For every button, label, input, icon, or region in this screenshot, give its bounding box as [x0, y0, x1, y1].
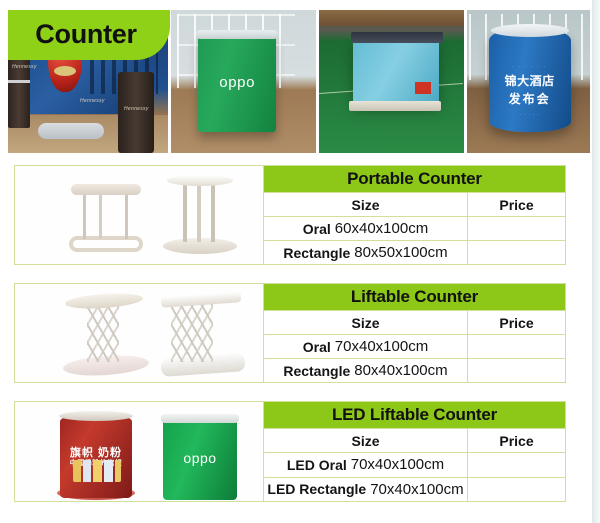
row-size-value: 70x40x100cm — [366, 481, 463, 498]
portable-counter-image — [15, 166, 263, 264]
oppo-logo-text-led: oppo — [163, 450, 237, 466]
table-row: LED Oral 70x40x100cm — [264, 452, 565, 476]
counter-ring-bottom — [8, 80, 30, 83]
price-cell — [468, 217, 565, 240]
table-header-row: Size Price — [264, 428, 565, 452]
price-cell — [468, 478, 565, 501]
row-label: Rectangle — [283, 245, 350, 261]
booth-cushion — [38, 123, 104, 139]
hennessy-wordmark-right: Hennessy — [124, 106, 149, 112]
liftable-counter-photo — [15, 284, 263, 382]
price-cell — [468, 241, 565, 264]
product-cans-graphic — [73, 460, 121, 482]
column-header-size-label: Size — [351, 433, 379, 449]
column-header-price: Price — [468, 311, 565, 334]
bottle-label — [54, 66, 76, 76]
spec-table-liftable-counter: Liftable Counter Size Price Oral 70x40x1… — [263, 284, 565, 382]
product-card-led-liftable-counter: 旗帜 奶粉 中国奶粉的旗帜 oppo LED Liftable Counter … — [14, 401, 566, 502]
page-title: Counter — [35, 19, 142, 52]
section-title-portable-counter: Portable Counter — [264, 166, 565, 192]
table-row: Oral 70x40x100cm — [264, 334, 565, 358]
blue-counter-top — [491, 24, 569, 37]
blue-counter-subtitle: · · · · · · — [489, 64, 571, 69]
column-header-size-label: Size — [351, 197, 379, 213]
table-row: Rectangle 80x50x100cm — [264, 240, 565, 264]
row-label: Oral — [303, 339, 331, 355]
table-row: Rectangle 80x40x100cm — [264, 358, 565, 382]
red-accent-tag — [415, 82, 431, 94]
price-cell — [468, 453, 565, 476]
cyan-counter-base — [349, 101, 441, 111]
page-right-edge — [592, 0, 600, 523]
column-header-price-label: Price — [499, 433, 533, 449]
cyan-counter-top — [351, 32, 443, 43]
section-title-liftable-counter: Liftable Counter — [264, 284, 565, 310]
page-title-tab: Counter — [8, 10, 170, 60]
column-header-size-label: Size — [351, 315, 379, 331]
table-row: LED Rectangle 70x40x100cm — [264, 477, 565, 501]
square-counter-top — [71, 184, 141, 195]
hennessy-wordmark-wall: Hennessy — [80, 98, 105, 104]
oppo-green-counter-photo: oppo — [171, 10, 316, 153]
size-cell: LED Rectangle 70x40x100cm — [264, 478, 468, 501]
wood-floor-strip — [319, 10, 463, 26]
row-size-value: 70x40x100cm — [347, 456, 444, 473]
row-label: LED Oral — [287, 457, 347, 473]
row-size-value: 80x40x100cm — [350, 362, 447, 379]
column-header-price: Price — [468, 193, 565, 216]
green-counter-top — [196, 30, 278, 39]
liftable-counter-image — [15, 284, 263, 382]
catalog-page: Hennessy Hennessy Hennessy oppo · — [0, 0, 592, 523]
square-counter-legs — [77, 193, 135, 239]
size-cell: LED Oral 70x40x100cm — [264, 453, 468, 476]
column-header-price: Price — [468, 429, 565, 452]
column-header-price-label: Price — [499, 315, 533, 331]
blue-counter-body: · · · · · · 锦大酒店 发布会 · · · · · — [489, 28, 571, 132]
green-counter-body: oppo — [198, 34, 276, 132]
size-cell: Oral 60x40x100cm — [264, 217, 468, 240]
blue-counter-line-2: 发布会 — [489, 90, 571, 107]
led-liftable-counter-photo: 旗帜 奶粉 中国奶粉的旗帜 oppo — [15, 402, 263, 501]
row-size-value: 70x40x100cm — [331, 338, 428, 355]
round-counter-top — [167, 175, 233, 186]
table-header-row: Size Price — [264, 192, 565, 216]
hennessy-wordmark-left: Hennessy — [12, 64, 37, 70]
row-label: LED Rectangle — [267, 481, 366, 497]
spec-table-portable-counter: Portable Counter Size Price Oral 60x40x1… — [263, 166, 565, 264]
table-row: Oral 60x40x100cm — [264, 216, 565, 240]
price-cell — [468, 335, 565, 358]
red-led-counter-body: 旗帜 奶粉 中国奶粉的旗帜 — [60, 414, 132, 498]
price-cell — [468, 359, 565, 382]
product-card-portable-counter: Portable Counter Size Price Oral 60x40x1… — [14, 165, 566, 265]
product-card-liftable-counter: Liftable Counter Size Price Oral 70x40x1… — [14, 283, 566, 383]
blue-oval-counter-photo: · · · · · · 锦大酒店 发布会 · · · · · — [467, 10, 590, 153]
blue-counter-footnote: · · · · · — [489, 112, 571, 117]
blue-counter-line-1: 锦大酒店 — [489, 72, 571, 89]
green-led-counter-top — [161, 414, 239, 423]
oval-liftable-top — [65, 291, 144, 310]
size-cell: Oral 70x40x100cm — [264, 335, 468, 358]
dark-counter-right — [118, 72, 154, 153]
rect-scissor-frame — [171, 304, 213, 362]
oppo-logo-text: oppo — [198, 74, 276, 91]
size-cell: Rectangle 80x40x100cm — [264, 359, 468, 382]
column-header-price-label: Price — [499, 197, 533, 213]
round-counter-legs — [181, 184, 219, 242]
red-led-counter-top — [59, 411, 133, 421]
column-header-size: Size — [264, 429, 468, 452]
section-title-led-liftable-counter: LED Liftable Counter — [264, 402, 565, 428]
row-label: Oral — [303, 221, 331, 237]
size-cell: Rectangle 80x50x100cm — [264, 241, 468, 264]
column-header-size: Size — [264, 311, 468, 334]
cyan-counter-photo — [319, 10, 463, 153]
portable-counter-photo — [15, 166, 263, 264]
column-header-size: Size — [264, 193, 468, 216]
row-label: Rectangle — [283, 363, 350, 379]
oval-scissor-frame — [87, 306, 119, 362]
led-counter-image: 旗帜 奶粉 中国奶粉的旗帜 oppo — [15, 402, 263, 501]
cyan-counter-body — [353, 40, 439, 104]
row-size-value: 80x50x100cm — [350, 244, 447, 261]
row-size-value: 60x40x100cm — [331, 220, 428, 237]
spec-table-led-liftable-counter: LED Liftable Counter Size Price LED Oral… — [263, 402, 565, 501]
table-header-row: Size Price — [264, 310, 565, 334]
